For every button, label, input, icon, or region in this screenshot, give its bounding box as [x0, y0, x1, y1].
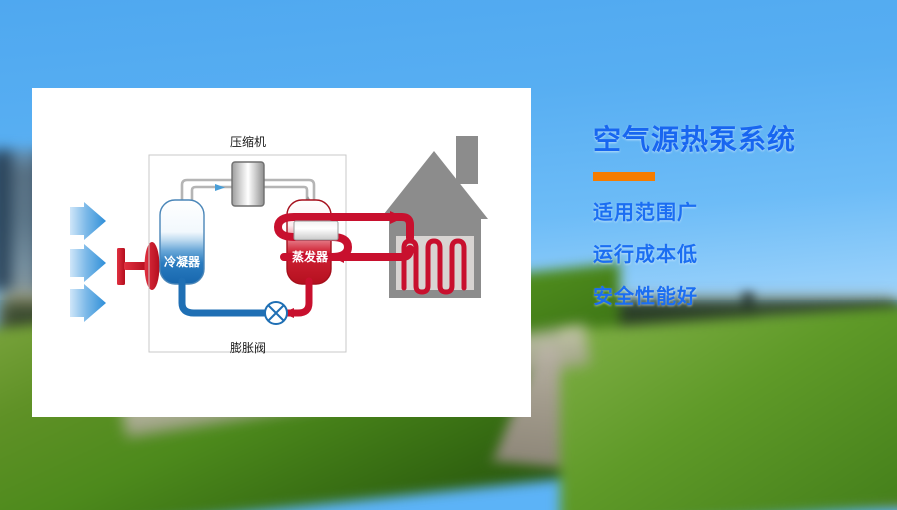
compressor-unit [232, 162, 264, 206]
condenser-unit [160, 200, 204, 284]
airflow-arrow-top [70, 202, 106, 240]
compressor-label: 压缩机 [230, 134, 266, 149]
list-item: 安全性能好 [593, 287, 883, 307]
heat-pump-system-diagram: 压缩机 冷凝器 蒸发器 [32, 88, 531, 417]
cold-liquid-line [182, 281, 267, 313]
condenser-label: 冷凝器 [164, 254, 201, 269]
fan-icon [117, 242, 160, 290]
expansion-valve-icon [265, 302, 287, 324]
accent-bar [593, 172, 655, 181]
list-item: 适用范围广 [593, 203, 883, 223]
headline-block: 空气源热泵系统 适用范围广 运行成本低 安全性能好 [593, 124, 883, 307]
airflow-arrow-middle [70, 244, 106, 282]
evaporator-heat-exchanger [294, 221, 338, 240]
list-item: 运行成本低 [593, 245, 883, 265]
evaporator-label: 蒸发器 [292, 249, 329, 264]
slide-canvas: 压缩机 冷凝器 蒸发器 [0, 0, 897, 510]
evaporator-unit [287, 200, 331, 284]
feature-list: 适用范围广 运行成本低 安全性能好 [593, 203, 883, 307]
expansion-valve-label: 膨胀阀 [230, 341, 266, 355]
hot-liquid-line [285, 281, 309, 313]
background-grass-right [560, 301, 897, 510]
airflow-arrow-bottom [70, 284, 106, 322]
page-title: 空气源热泵系统 [593, 124, 883, 156]
diagram-panel: 压缩机 冷凝器 蒸发器 [32, 88, 531, 417]
gas-flow-arrow [215, 184, 225, 191]
